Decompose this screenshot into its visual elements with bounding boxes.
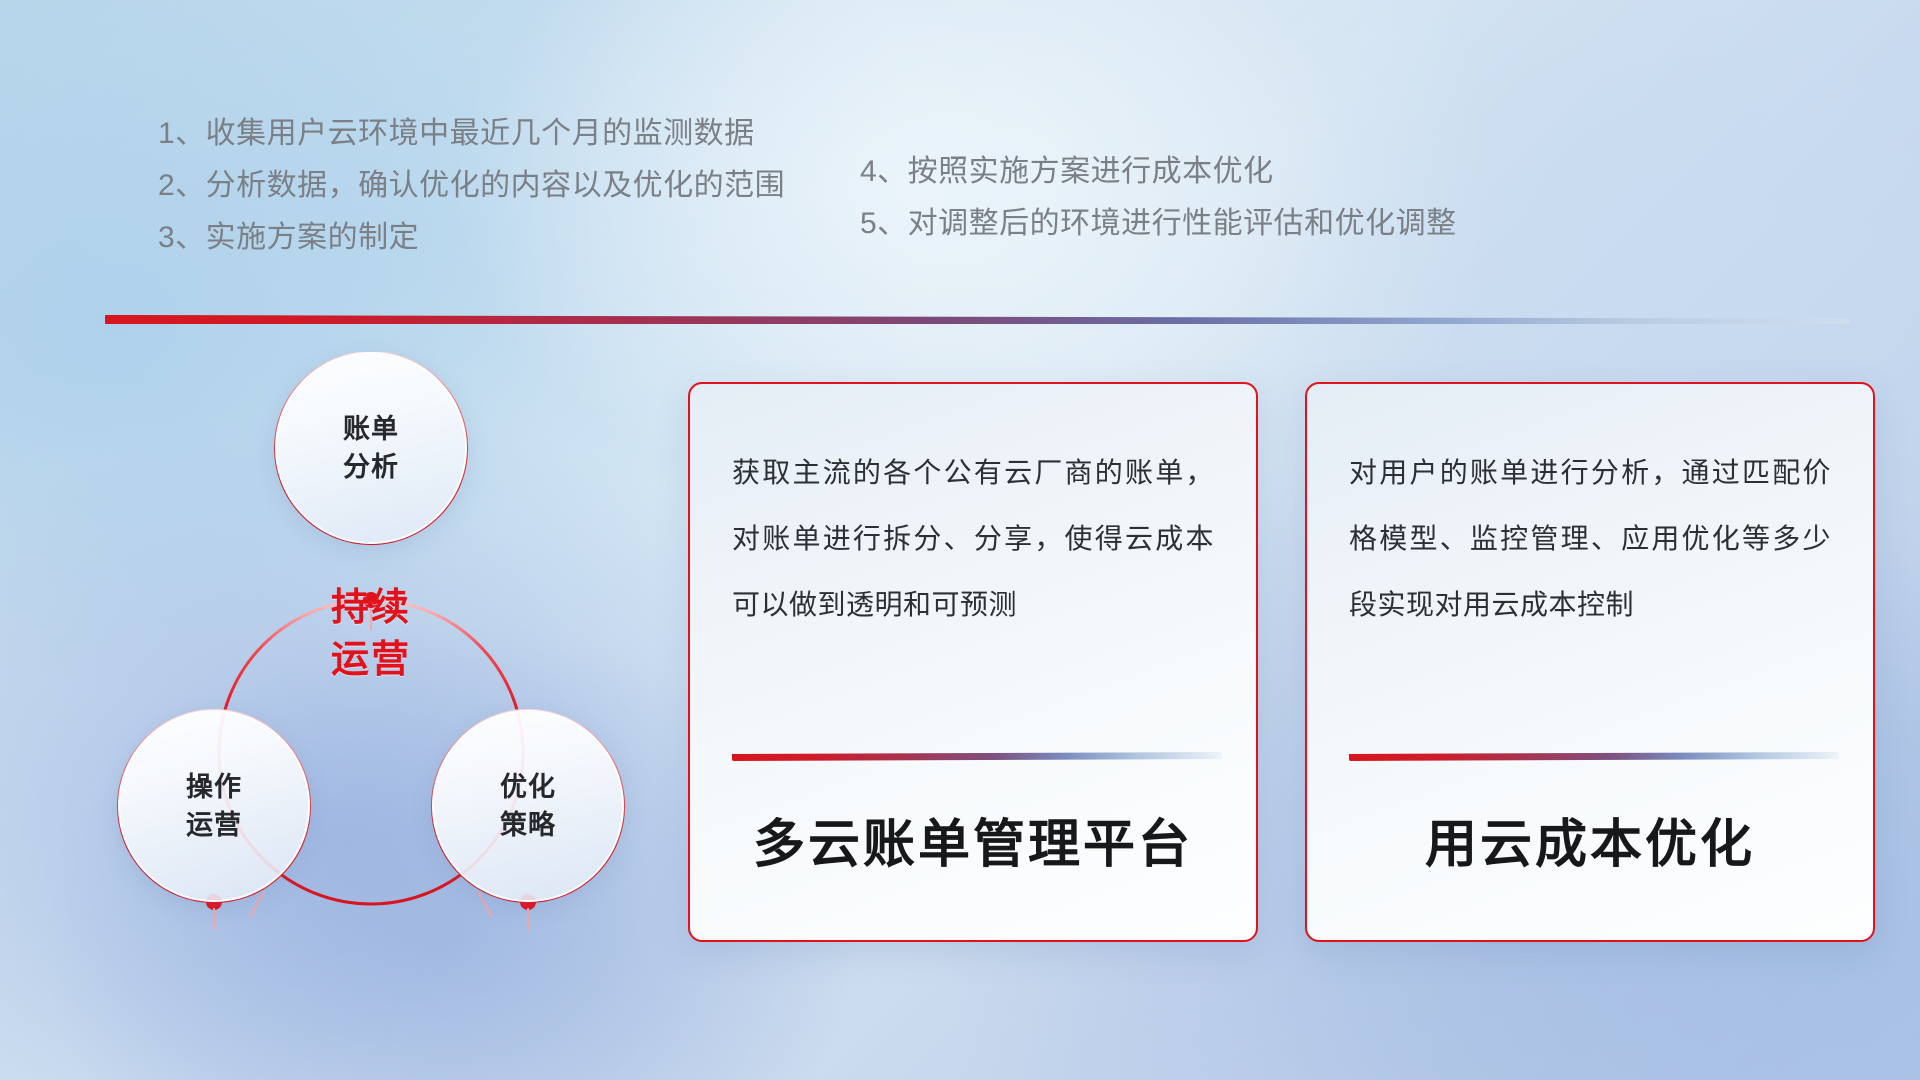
connector-left (250, 892, 264, 917)
steps-section: 1、收集用户云环境中最近几个月的监测数据 2、分析数据，确认优化的内容以及优化的… (0, 108, 1920, 264)
lobe-label-left: 操作 运营 (186, 768, 242, 844)
step-item: 1、收集用户云环境中最近几个月的监测数据 (158, 108, 848, 160)
accent-divider-rule (105, 315, 1850, 324)
lobe-label-top-line2: 分析 (343, 448, 399, 486)
card-body-text: 对用户的账单进行分析，通过匹配价格模型、监控管理、应用优化等多少段实现对用云成本… (1349, 440, 1831, 638)
diagram-lobe-bill-analysis[interactable]: 账单 分析 (275, 352, 467, 544)
step-item: 2、分析数据，确认优化的内容以及优化的范围 (158, 160, 848, 212)
steps-right-column: 4、按照实施方案进行成本优化 5、对调整后的环境进行性能评估和优化调整 (860, 108, 1620, 264)
steps-left-column: 1、收集用户云环境中最近几个月的监测数据 2、分析数据，确认优化的内容以及优化的… (158, 108, 848, 264)
center-label-line1: 持续 (275, 582, 467, 634)
lobe-label-left-line2: 运营 (186, 806, 242, 844)
card-divider (732, 752, 1222, 761)
connector-right (478, 892, 492, 917)
center-label-line2: 运营 (275, 634, 467, 686)
info-card-cloud-cost-optimization[interactable]: 对用户的账单进行分析，通过匹配价格模型、监控管理、应用优化等多少段实现对用云成本… (1305, 382, 1875, 942)
lobe-label-right: 优化 策略 (500, 768, 556, 844)
lobe-label-right-line2: 策略 (500, 806, 556, 844)
step-item: 5、对调整后的环境进行性能评估和优化调整 (860, 198, 1620, 250)
lobe-label-right-line1: 优化 (500, 768, 556, 806)
lobe-label-left-line1: 操作 (186, 768, 242, 806)
diagram-lobe-optimization-strategy[interactable]: 优化 策略 (432, 710, 624, 902)
step-item: 4、按照实施方案进行成本优化 (860, 146, 1620, 198)
info-card-multicloud-billing[interactable]: 获取主流的各个公有云厂商的账单，对账单进行拆分、分享，使得云成本可以做到透明和可… (688, 382, 1258, 942)
card-divider (1349, 752, 1839, 761)
diagram-lobe-operations[interactable]: 操作 运营 (118, 710, 310, 902)
card-title: 多云账单管理平台 (690, 802, 1256, 877)
card-divider-bar (732, 752, 1222, 761)
lobe-label-top-line1: 账单 (343, 410, 399, 448)
continuous-operations-diagram: 账单 分析 操作 运营 优化 策略 持续 运营 (100, 352, 630, 962)
slide-root: 1、收集用户云环境中最近几个月的监测数据 2、分析数据，确认优化的内容以及优化的… (0, 0, 1920, 1080)
card-title: 用云成本优化 (1307, 802, 1873, 877)
card-divider-bar (1349, 752, 1839, 761)
lobe-label-top: 账单 分析 (343, 410, 399, 486)
accent-divider-bar (105, 315, 1850, 324)
card-body-text: 获取主流的各个公有云厂商的账单，对账单进行拆分、分享，使得云成本可以做到透明和可… (732, 440, 1214, 638)
diagram-center-label: 持续 运营 (275, 582, 467, 686)
step-item: 3、实施方案的制定 (158, 212, 848, 264)
